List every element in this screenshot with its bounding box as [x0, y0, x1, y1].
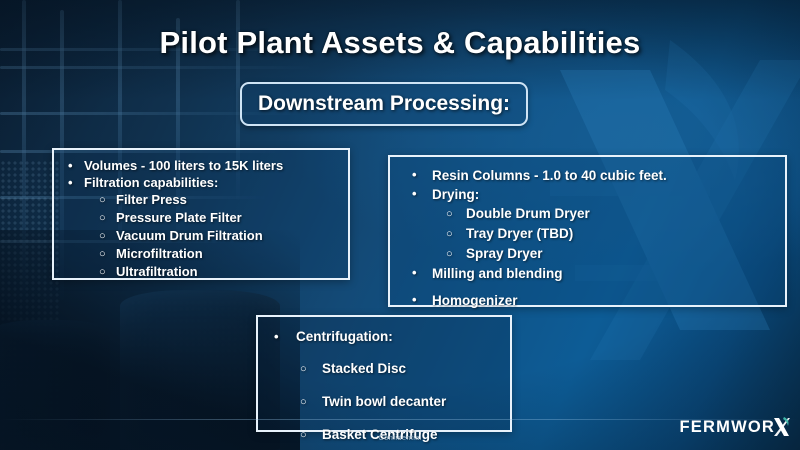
- list-item-label: Vacuum Drum Filtration: [116, 227, 263, 244]
- circle-bullet-icon: ○: [99, 245, 116, 263]
- content-box-filtration: • Volumes - 100 liters to 15K liters • F…: [52, 148, 350, 280]
- circle-bullet-icon: ○: [446, 204, 466, 224]
- list-item-label: Volumes - 100 liters to 15K liters: [84, 157, 283, 174]
- section-subtitle-text: Downstream Processing:: [258, 92, 510, 116]
- list-item: ○ Vacuum Drum Filtration: [54, 227, 348, 245]
- list-item: ○ Filter Press: [54, 191, 348, 209]
- list-item-label: Resin Columns - 1.0 to 40 cubic feet.: [432, 166, 667, 185]
- bullet-icon: •: [412, 264, 432, 281]
- circle-bullet-icon: ○: [300, 393, 322, 412]
- circle-bullet-icon: ○: [99, 191, 116, 209]
- list-item-label: Twin bowl decanter: [322, 393, 446, 411]
- list-item: ○ Microfiltration: [54, 245, 348, 263]
- list-item: ○ Pressure Plate Filter: [54, 209, 348, 227]
- filtration-list: • Volumes - 100 liters to 15K liters • F…: [54, 150, 348, 281]
- list-item: • Filtration capabilities:: [54, 174, 348, 191]
- bullet-icon: •: [274, 328, 296, 345]
- list-item: ○ Spray Dryer: [390, 244, 785, 264]
- list-item-label: Centrifugation:: [296, 328, 393, 346]
- list-item-label: Tray Dryer (TBD): [466, 224, 573, 243]
- page-title: Pilot Plant Assets & Capabilities: [0, 25, 800, 61]
- list-item-label: Ultrafiltration: [116, 263, 198, 280]
- list-item: ○ Double Drum Dryer: [390, 204, 785, 224]
- list-item-label: Stacked Disc: [322, 360, 406, 378]
- content-box-resin-drying: • Resin Columns - 1.0 to 40 cubic feet. …: [388, 155, 787, 307]
- list-item-label: Double Drum Dryer: [466, 204, 590, 223]
- circle-bullet-icon: ○: [446, 244, 466, 264]
- list-item: • Homogenizer: [390, 291, 785, 310]
- bullet-icon: •: [412, 166, 432, 183]
- bullet-icon: •: [412, 291, 432, 308]
- list-item-label: Homogenizer: [432, 291, 518, 310]
- list-item-label: Milling and blending: [432, 264, 563, 283]
- list-item: ○ Stacked Disc: [258, 360, 510, 379]
- bullet-icon: •: [68, 174, 84, 191]
- list-item-label: Pressure Plate Filter: [116, 209, 242, 226]
- list-item: • Milling and blending: [390, 264, 785, 283]
- bullet-icon: •: [412, 185, 432, 202]
- circle-bullet-icon: ○: [300, 360, 322, 379]
- list-item: ○ Twin bowl decanter: [258, 393, 510, 412]
- logo-x-mark-icon: [773, 417, 790, 437]
- list-item: ○ Tray Dryer (TBD): [390, 224, 785, 244]
- resin-drying-list: • Resin Columns - 1.0 to 40 cubic feet. …: [390, 157, 785, 310]
- circle-bullet-icon: ○: [99, 263, 116, 281]
- list-item-label: Filter Press: [116, 191, 187, 208]
- list-item-label: Spray Dryer: [466, 244, 543, 263]
- bullet-icon: •: [68, 157, 84, 174]
- section-subtitle-box: Downstream Processing:: [240, 82, 528, 126]
- slide: Pilot Plant Assets & Capabilities Downst…: [0, 0, 800, 450]
- list-item: • Centrifugation:: [258, 328, 510, 346]
- list-item-label: Filtration capabilities:: [84, 174, 218, 191]
- list-item: • Drying:: [390, 185, 785, 204]
- circle-bullet-icon: ○: [446, 224, 466, 244]
- logo-wordmark: FERMWOR: [680, 418, 775, 437]
- list-item: • Volumes - 100 liters to 15K liters: [54, 157, 348, 174]
- list-item: ○ Ultrafiltration: [54, 263, 348, 281]
- circle-bullet-icon: ○: [99, 227, 116, 245]
- centrifugation-list: • Centrifugation: ○ Stacked Disc ○ Twin …: [258, 317, 510, 445]
- list-item-label: Drying:: [432, 185, 479, 204]
- content-box-centrifugation: • Centrifugation: ○ Stacked Disc ○ Twin …: [256, 315, 512, 432]
- list-item-label: Microfiltration: [116, 245, 203, 262]
- fermworx-logo: FERMWOR: [680, 417, 790, 437]
- list-item: • Resin Columns - 1.0 to 40 cubic feet.: [390, 166, 785, 185]
- circle-bullet-icon: ○: [99, 209, 116, 227]
